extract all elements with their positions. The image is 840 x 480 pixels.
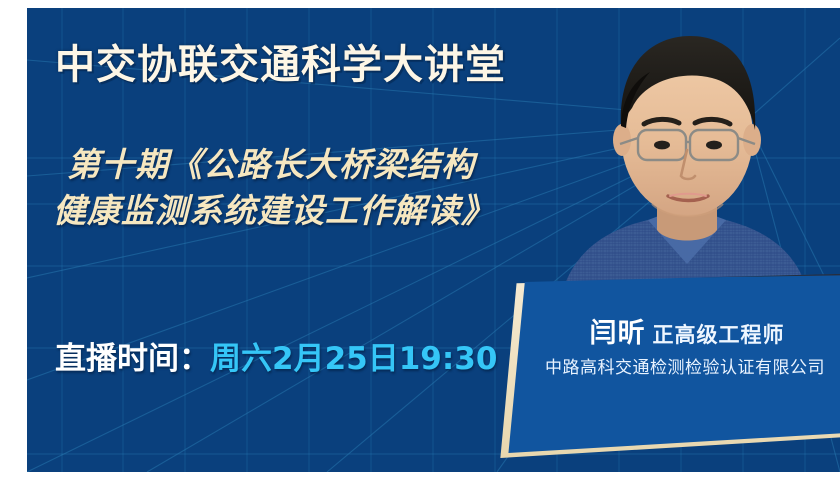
speaker-card-body: 闫昕正高级工程师 中路高科交通检测检验认证有限公司 xyxy=(501,273,840,453)
speaker-name: 闫昕 xyxy=(590,318,646,349)
broadcast-time: 直播时间：周六2月25日19:30 xyxy=(55,333,497,378)
speaker-card: 闫昕正高级工程师 中路高科交通检测检验认证有限公司 xyxy=(493,270,840,470)
session-subtitle-line-2: 健康监测系统建设工作解读》 xyxy=(53,188,593,234)
speaker-card-top-edge xyxy=(517,269,840,280)
session-subtitle-line-1: 第十期《公路长大桥梁结构 xyxy=(67,142,593,188)
speaker-organization: 中路高科交通检测检验认证有限公司 xyxy=(501,353,840,378)
page-title: 中交协联交通科学大讲堂 xyxy=(55,32,506,90)
broadcast-time-value: 周六2月25日19:30 xyxy=(210,341,497,377)
poster-canvas: 中交协联交通科学大讲堂 第十期《公路长大桥梁结构 健康监测系统建设工作解读》 直… xyxy=(27,8,840,472)
live-stream-poster: 中交协联交通科学大讲堂 第十期《公路长大桥梁结构 健康监测系统建设工作解读》 直… xyxy=(0,0,840,480)
broadcast-time-label: 直播时间： xyxy=(55,341,210,377)
speaker-name-row: 闫昕正高级工程师 xyxy=(501,311,840,350)
session-subtitle: 第十期《公路长大桥梁结构 健康监测系统建设工作解读》 xyxy=(53,142,593,233)
speaker-job-title: 正高级工程师 xyxy=(653,323,785,347)
